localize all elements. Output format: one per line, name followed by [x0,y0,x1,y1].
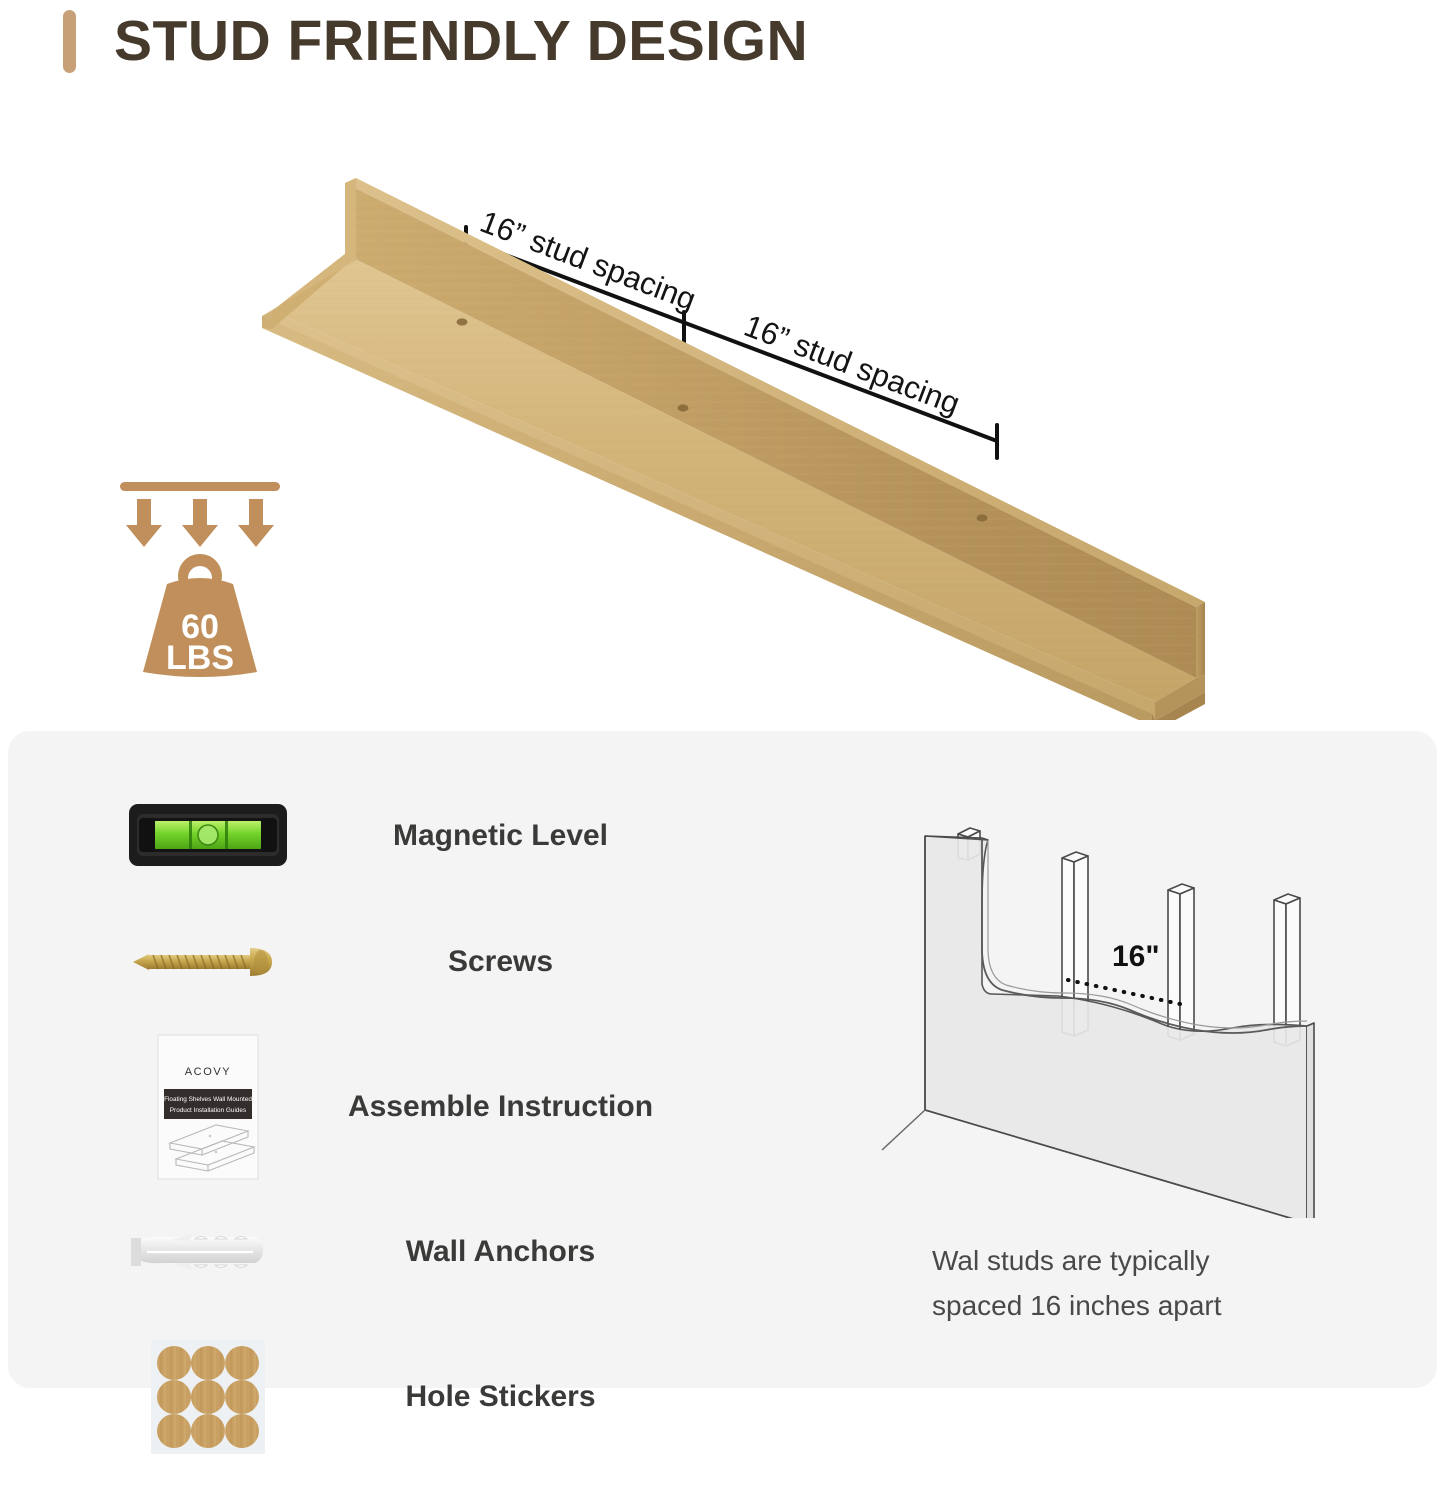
down-arrow-icon [126,499,274,547]
list-item-label: Wall Anchors [295,1235,720,1269]
page-title: STUD FRIENDLY DESIGN [114,8,808,74]
title-accent-bar [63,10,76,73]
load-weight-unit: LBS [166,639,234,677]
magnetic-level-icon [120,780,295,892]
list-item: Screws [120,906,720,1018]
list-item: Hole Stickers [120,1322,720,1472]
instruction-booklet-icon: ACOVY Floating Shelves Wall Mounted Prod… [120,1032,295,1182]
accessories-list: Magnetic Level [120,780,720,1486]
stud-spacing-label: 16" [1112,940,1160,973]
list-item-label: Hole Stickers [295,1380,720,1414]
caption-line-1: Wal studs are typically [932,1238,1352,1283]
shelf-bar-icon [120,482,280,491]
list-item: ACOVY Floating Shelves Wall Mounted Prod… [120,1032,720,1182]
caption-line-2: spaced 16 inches apart [932,1283,1352,1328]
list-item: Magnetic Level [120,780,720,892]
load-capacity-badge: 60 LBS [110,478,290,683]
page-title-row: STUD FRIENDLY DESIGN [63,8,808,74]
screw-icon [120,906,295,1018]
booklet-line2: Product Installation Guides [169,1107,245,1114]
list-item-label: Magnetic Level [295,819,720,853]
booklet-brand: ACOVY [184,1066,231,1078]
hole-stickers-icon [120,1322,295,1472]
list-item-label: Assemble Instruction [295,1090,720,1124]
list-item-label: Screws [295,945,720,979]
stud-diagram-caption: Wal studs are typically spaced 16 inches… [932,1238,1352,1329]
wall-stud-diagram: 16" [862,798,1322,1218]
list-item: Wall Anchors [120,1196,720,1308]
booklet-line1: Floating Shelves Wall Mounted [164,1096,252,1103]
wall-anchor-icon [120,1196,295,1308]
